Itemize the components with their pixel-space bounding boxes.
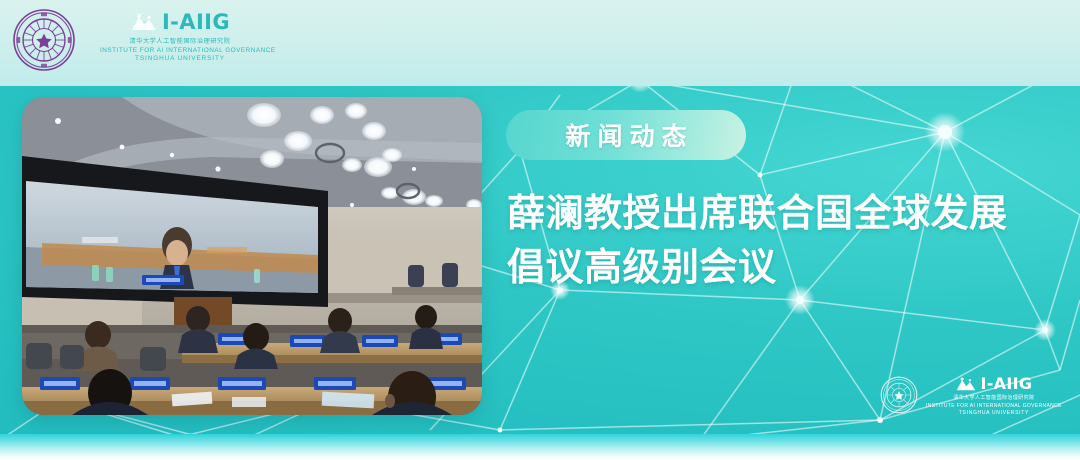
bottom-logo-row: I-AIIG bbox=[926, 375, 1062, 392]
conference-hall-photo bbox=[22, 97, 482, 415]
brand-chinese-name: 清华大学人工智能国际治理研究院 bbox=[100, 36, 260, 45]
i-aiig-mountain-mark-icon bbox=[130, 13, 158, 31]
logo-row: I-AIIG bbox=[100, 11, 260, 33]
bottom-logo-text-block: I-AIIG 清华大学人工智能国际治理研究院 INSTITUTE FOR AI … bbox=[926, 375, 1062, 416]
bottom-brand-english-line1: INSTITUTE FOR AI INTERNATIONAL GOVERNANC… bbox=[926, 403, 1062, 409]
headline-line-1: 薛澜教授出席联合国全球发展 bbox=[507, 186, 1027, 240]
wordmark-text: I-AIIG bbox=[162, 12, 230, 33]
i-aiig-mountain-mark-icon-bottom bbox=[955, 377, 977, 391]
brand-english-line1: INSTITUTE FOR AI INTERNATIONAL GOVERNANC… bbox=[100, 47, 260, 54]
bottom-gradient-band bbox=[0, 434, 1080, 460]
bottom-brand-chinese-name: 清华大学人工智能国际治理研究院 bbox=[926, 394, 1062, 401]
tsinghua-university-seal-icon-small bbox=[880, 376, 918, 414]
headline: 薛澜教授出席联合国全球发展 倡议高级别会议 bbox=[507, 186, 1027, 294]
category-badge: 新闻动态 bbox=[506, 110, 746, 160]
brand-english-line2: TSINGHUA UNIVERSITY bbox=[100, 55, 260, 62]
news-banner: I-AIIG 清华大学人工智能国际治理研究院 INSTITUTE FOR AI … bbox=[0, 0, 1080, 460]
bottom-brand-english-line2: TSINGHUA UNIVERSITY bbox=[926, 410, 1062, 416]
bottom-wordmark-text: I-AIIG bbox=[980, 376, 1032, 392]
news-photo bbox=[22, 97, 482, 415]
brand-logo-lockup-top: I-AIIG 清华大学人工智能国际治理研究院 INSTITUTE FOR AI … bbox=[100, 11, 260, 62]
tsinghua-university-seal-icon bbox=[12, 8, 76, 72]
brand-logo-lockup-bottom: I-AIIG 清华大学人工智能国际治理研究院 INSTITUTE FOR AI … bbox=[880, 375, 1062, 416]
category-badge-label: 新闻动态 bbox=[558, 117, 693, 153]
headline-line-2: 倡议高级别会议 bbox=[507, 240, 1027, 294]
